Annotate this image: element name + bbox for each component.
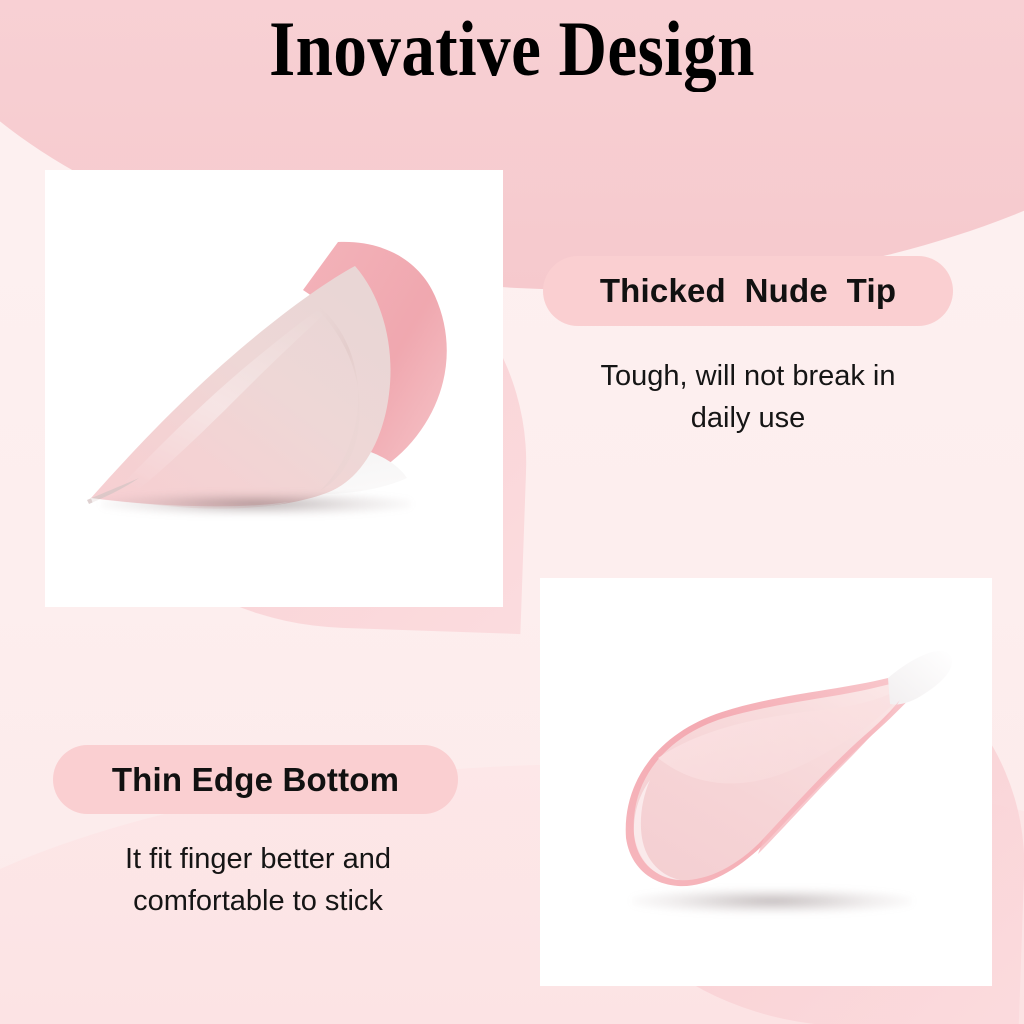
caption-line: Tough, will not break in: [558, 355, 938, 397]
feature-caption-thin-edge-bottom: It fit finger better and comfortable to …: [58, 838, 458, 922]
caption-line: daily use: [558, 397, 938, 439]
feature-pill-thin-edge-bottom: Thin Edge Bottom: [53, 745, 458, 814]
product-drop-shadow: [101, 492, 411, 516]
product-photo-card-thicked-nude-tip: [45, 170, 503, 607]
caption-line: comfortable to stick: [58, 880, 458, 922]
feature-caption-thicked-nude-tip: Tough, will not break in daily use: [558, 355, 938, 439]
page-title: Inovative Design: [72, 8, 953, 90]
product-drop-shadow: [632, 888, 912, 914]
product-image-thin-edge-bottom: [582, 620, 962, 950]
infographic-canvas: Inovative Design: [0, 0, 1024, 1024]
feature-pill-thicked-nude-tip: Thicked Nude Tip: [543, 256, 953, 326]
caption-line: It fit finger better and: [58, 838, 458, 880]
product-image-thicked-nude-tip: [63, 198, 483, 558]
product-photo-card-thin-edge-bottom: [540, 578, 992, 986]
